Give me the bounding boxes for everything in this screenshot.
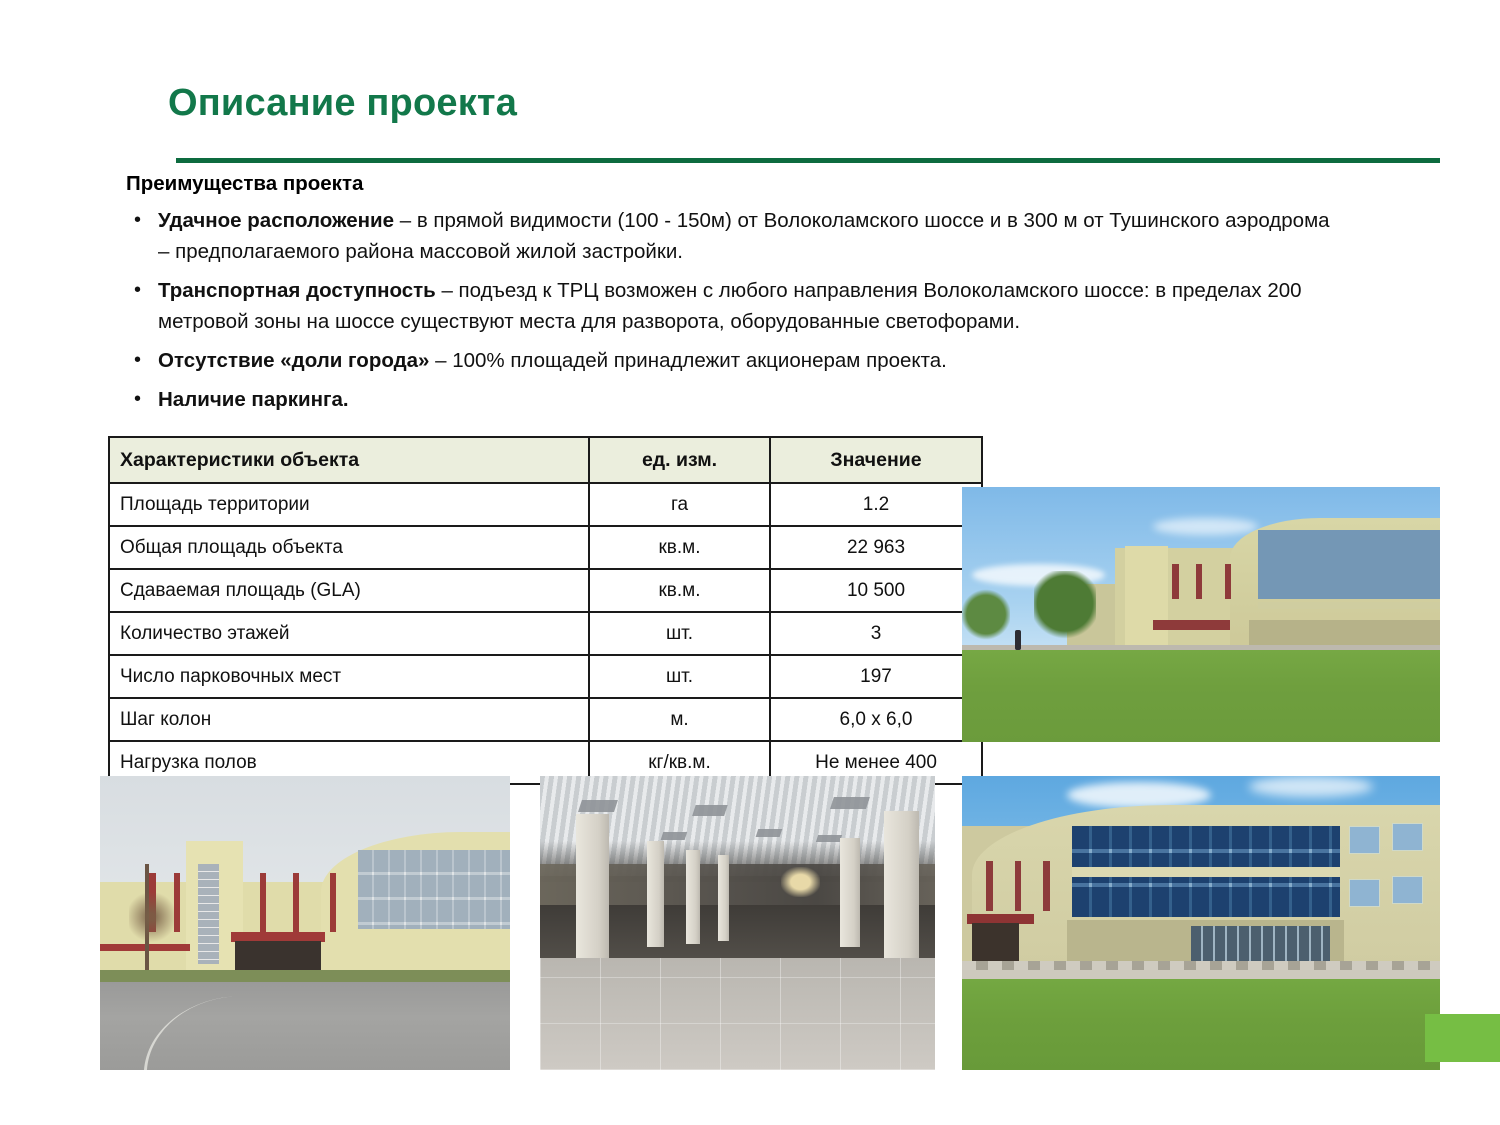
bullet-item: • Наличие паркинга. (126, 384, 1331, 415)
photo-entrance-canopy (1153, 620, 1229, 630)
photo-exterior-sunny-main (962, 776, 1440, 1070)
cell-value: 22 963 (770, 526, 982, 569)
cell-unit: кв.м. (589, 569, 770, 612)
photo-entrance-opening (235, 941, 321, 973)
photo-red-accent-stripe (1015, 861, 1022, 911)
photo-column (718, 855, 729, 940)
photo-red-accent-stripe (1172, 564, 1178, 600)
page-title: Описание проекта (168, 82, 517, 125)
photo-interior-corridor (540, 776, 935, 1070)
table-row: Шаг колон м. 6,0 x 6,0 (109, 698, 982, 741)
bullet-lead-text: Удачное расположение (158, 209, 394, 232)
bullet-lead-text: Отсутствие «доли города» (158, 349, 429, 372)
cell-characteristic: Площадь территории (109, 483, 589, 526)
cell-value: 197 (770, 655, 982, 698)
bullet-body-text: – 100% площадей принадлежит акционерам п… (429, 349, 946, 372)
section-subheading: Преимущества проекта (126, 172, 363, 196)
column-header-value: Значение (770, 437, 982, 483)
photo-floor-tiles (540, 958, 935, 1070)
cell-characteristic: Число парковочных мест (109, 655, 589, 698)
cell-characteristic: Количество этажей (109, 612, 589, 655)
photo-red-accent-stripe (330, 873, 337, 932)
table-row: Число парковочных мест шт. 197 (109, 655, 982, 698)
photo-side-window (1392, 876, 1423, 904)
photo-red-accent-stripe (1225, 564, 1231, 600)
photo-column (840, 838, 860, 947)
photo-tree (962, 589, 1010, 640)
accent-block (1425, 1014, 1500, 1062)
photo-red-accent-stripe (293, 873, 300, 932)
photo-side-window (1349, 826, 1380, 854)
bullet-item: • Отсутствие «доли города» – 100% площад… (126, 345, 1331, 376)
photo-column (576, 814, 610, 958)
photo-lawn (962, 650, 1440, 742)
photo-ceiling-light-panel (661, 832, 687, 840)
bullet-marker-icon: • (134, 384, 141, 415)
cell-characteristic: Шаг колон (109, 698, 589, 741)
column-header-characteristic: Характеристики объекта (109, 437, 589, 483)
column-header-unit: ед. изм. (589, 437, 770, 483)
photo-lawn (962, 979, 1440, 1070)
photo-tree (1034, 571, 1096, 642)
photo-column (884, 811, 920, 961)
title-underline-rule (176, 158, 1440, 163)
table-row: Сдаваемая площадь (GLA) кв.м. 10 500 (109, 569, 982, 612)
photo-ceiling-light-panel (692, 805, 727, 816)
photo-ceiling-light-panel (578, 800, 617, 812)
bullet-marker-icon: • (134, 275, 141, 306)
bullet-lead-text: Транспортная доступность (158, 279, 436, 302)
photo-column (686, 850, 700, 944)
photo-red-accent-stripe (986, 861, 993, 911)
cell-unit: шт. (589, 612, 770, 655)
photo-exterior-overcast (100, 776, 510, 1070)
cell-value: 3 (770, 612, 982, 655)
cell-unit: м. (589, 698, 770, 741)
photo-exterior-sunny-top (962, 487, 1440, 742)
photo-cloud (1249, 776, 1373, 797)
cell-value: 10 500 (770, 569, 982, 612)
table-header-row: Характеристики объекта ед. изм. Значение (109, 437, 982, 483)
photo-red-accent-stripe (1196, 564, 1202, 600)
photo-tower-window (198, 864, 219, 964)
bullet-marker-icon: • (134, 205, 141, 236)
photo-facade-band (1258, 602, 1440, 610)
cell-unit: кв.м. (589, 526, 770, 569)
table-row: Площадь территории га 1.2 (109, 483, 982, 526)
photo-glass-facade (1258, 530, 1440, 599)
cell-value: 6,0 x 6,0 (770, 698, 982, 741)
photo-red-accent-stripe (260, 873, 267, 932)
photo-person (1015, 630, 1022, 650)
photo-side-window (1349, 879, 1380, 907)
photo-ceiling-light-panel (830, 797, 869, 809)
cell-value: 1.2 (770, 483, 982, 526)
photo-far-light (781, 867, 821, 896)
slide-root: Описание проекта Преимущества проекта • … (0, 0, 1500, 1125)
bullet-marker-icon: • (134, 345, 141, 376)
photo-red-accent-stripe (174, 873, 181, 932)
photo-entrance-glazing (1191, 926, 1330, 964)
cell-characteristic: Сдаваемая площадь (GLA) (109, 569, 589, 612)
photo-side-window (1392, 823, 1423, 851)
cell-unit: га (589, 483, 770, 526)
advantages-bullet-list: • Удачное расположение – в прямой видимо… (126, 205, 1331, 423)
object-specifications-table: Характеристики объекта ед. изм. Значение… (108, 436, 983, 785)
cell-characteristic: Общая площадь объекта (109, 526, 589, 569)
table-row: Общая площадь объекта кв.м. 22 963 (109, 526, 982, 569)
bullet-item: • Удачное расположение – в прямой видимо… (126, 205, 1331, 267)
photo-column (647, 841, 665, 947)
photo-building-tower (1125, 546, 1168, 653)
photo-bare-tree (129, 858, 174, 976)
photo-facade-band (1072, 867, 1340, 877)
photo-ceiling-light-panel (756, 829, 782, 837)
cell-unit: шт. (589, 655, 770, 698)
bullet-lead-text: Наличие паркинга. (158, 388, 349, 411)
photo-glass-facade (358, 850, 510, 929)
bullet-item: • Транспортная доступность – подъезд к Т… (126, 275, 1331, 337)
photo-red-accent-stripe (1043, 861, 1050, 911)
photo-cloud (1067, 782, 1210, 808)
table-row: Количество этажей шт. 3 (109, 612, 982, 655)
